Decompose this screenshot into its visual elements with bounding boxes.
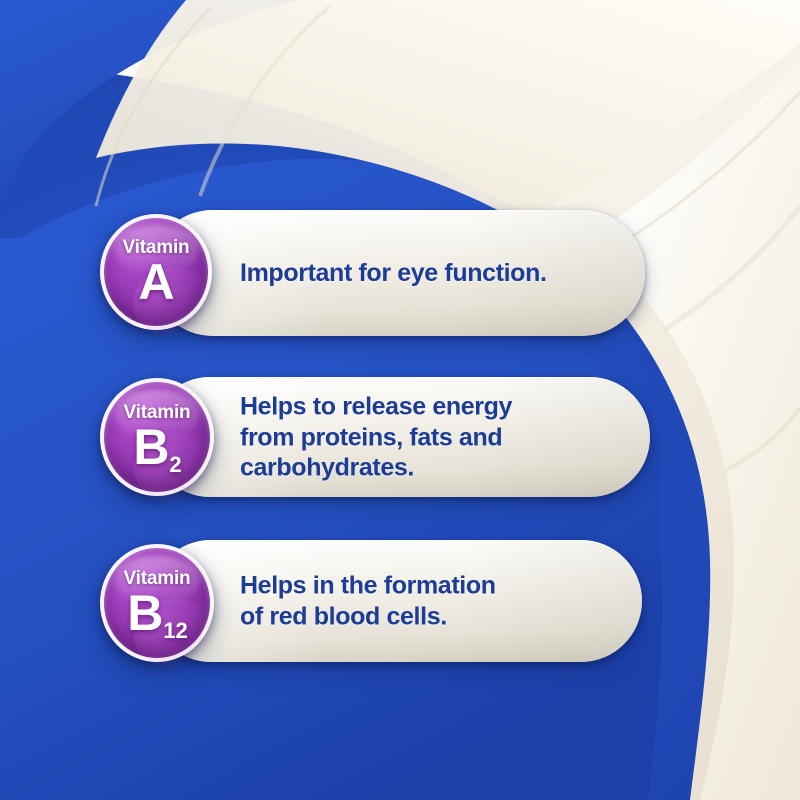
infographic-canvas: Important for eye function. Vitamin A He… — [0, 0, 800, 800]
vitamin-badge-b12[interactable]: Vitamin B12 — [100, 544, 214, 662]
badge-letter-label: B12 — [127, 589, 187, 637]
vitamin-card-b12[interactable]: Helps in the formation of red blood cell… — [150, 540, 642, 662]
card-description-a: Important for eye function. — [240, 258, 547, 289]
vitamin-card-list: Important for eye function. Vitamin A He… — [0, 0, 800, 800]
vitamin-card-a[interactable]: Important for eye function. — [150, 210, 645, 336]
badge-letter-label: A — [138, 258, 173, 306]
badge-letter-label: B2 — [133, 423, 180, 471]
vitamin-badge-a[interactable]: Vitamin A — [100, 214, 212, 330]
badge-subscript: 2 — [169, 452, 181, 477]
card-description-b12: Helps in the formation of red blood cell… — [240, 571, 496, 632]
vitamin-badge-b2[interactable]: Vitamin B2 — [100, 378, 214, 496]
badge-subscript: 12 — [163, 618, 187, 643]
vitamin-card-b2[interactable]: Helps to release energy from proteins, f… — [150, 377, 650, 497]
card-description-b2: Helps to release energy from proteins, f… — [240, 391, 512, 483]
